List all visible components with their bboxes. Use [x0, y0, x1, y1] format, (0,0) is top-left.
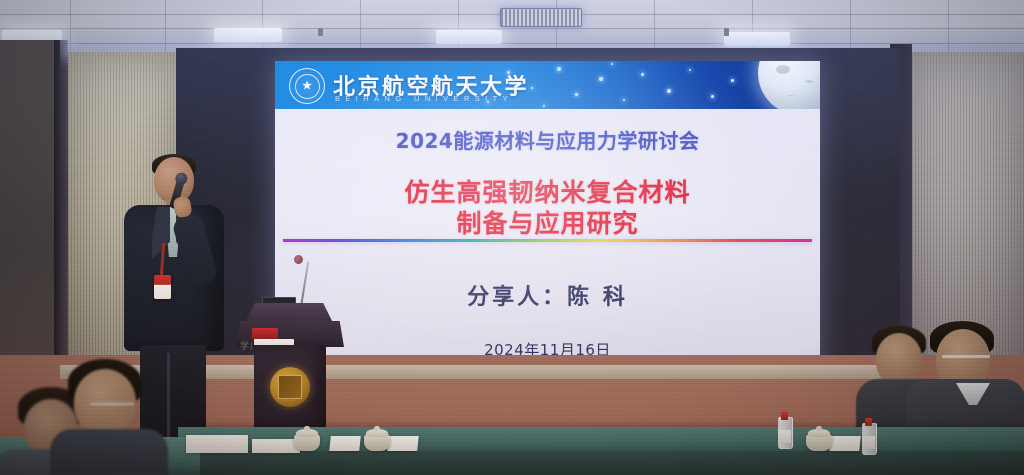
- university-name-en: BEIHANG UNIVERSITY: [335, 94, 513, 103]
- water-bottle-2: [862, 417, 875, 455]
- eyeglasses-icon: [942, 355, 990, 358]
- water-bottle-1: [778, 411, 791, 449]
- tea-cup-1: [294, 427, 320, 451]
- eyeglasses-icon: [90, 403, 134, 405]
- slide-subtitle: 2024能源材料与应用力学研讨会: [275, 125, 820, 154]
- presentation-slide: ★ 北京航空航天大学 BEIHANG UNIVERSITY 2024能源材料与应…: [275, 61, 820, 377]
- paper-documents-1: [186, 435, 248, 453]
- audience-torso: [50, 429, 168, 475]
- tea-cup-3: [806, 427, 832, 451]
- desk-calendar: [252, 328, 278, 339]
- conference-name-badge: [154, 275, 171, 299]
- title-line-1: 仿生高强韧纳米复合材料: [275, 177, 820, 208]
- slide-presenter: 分享人：陈 科: [275, 279, 820, 311]
- slide-header-band: ★ 北京航空航天大学 BEIHANG UNIVERSITY: [275, 61, 820, 109]
- gold-university-seal-icon: [270, 367, 310, 407]
- name-card-3: [829, 436, 861, 451]
- rainbow-divider: [283, 239, 812, 242]
- audience-head: [74, 369, 136, 435]
- name-card-2: [387, 436, 419, 451]
- audience-front-left-1: [28, 355, 158, 475]
- name-card-1: [329, 436, 361, 451]
- microphone-head-icon: [294, 255, 303, 264]
- paper-documents-2: [252, 439, 300, 453]
- tea-cup-2: [364, 427, 390, 451]
- beihang-university-crest-icon: ★: [289, 68, 325, 104]
- slide-main-title: 仿生高强韧纳米复合材料 制备与应用研究: [275, 177, 820, 239]
- title-line-2: 制备与应用研究: [275, 208, 820, 239]
- conference-room-photo: ★ 北京航空航天大学 BEIHANG UNIVERSITY 2024能源材料与应…: [0, 0, 1024, 475]
